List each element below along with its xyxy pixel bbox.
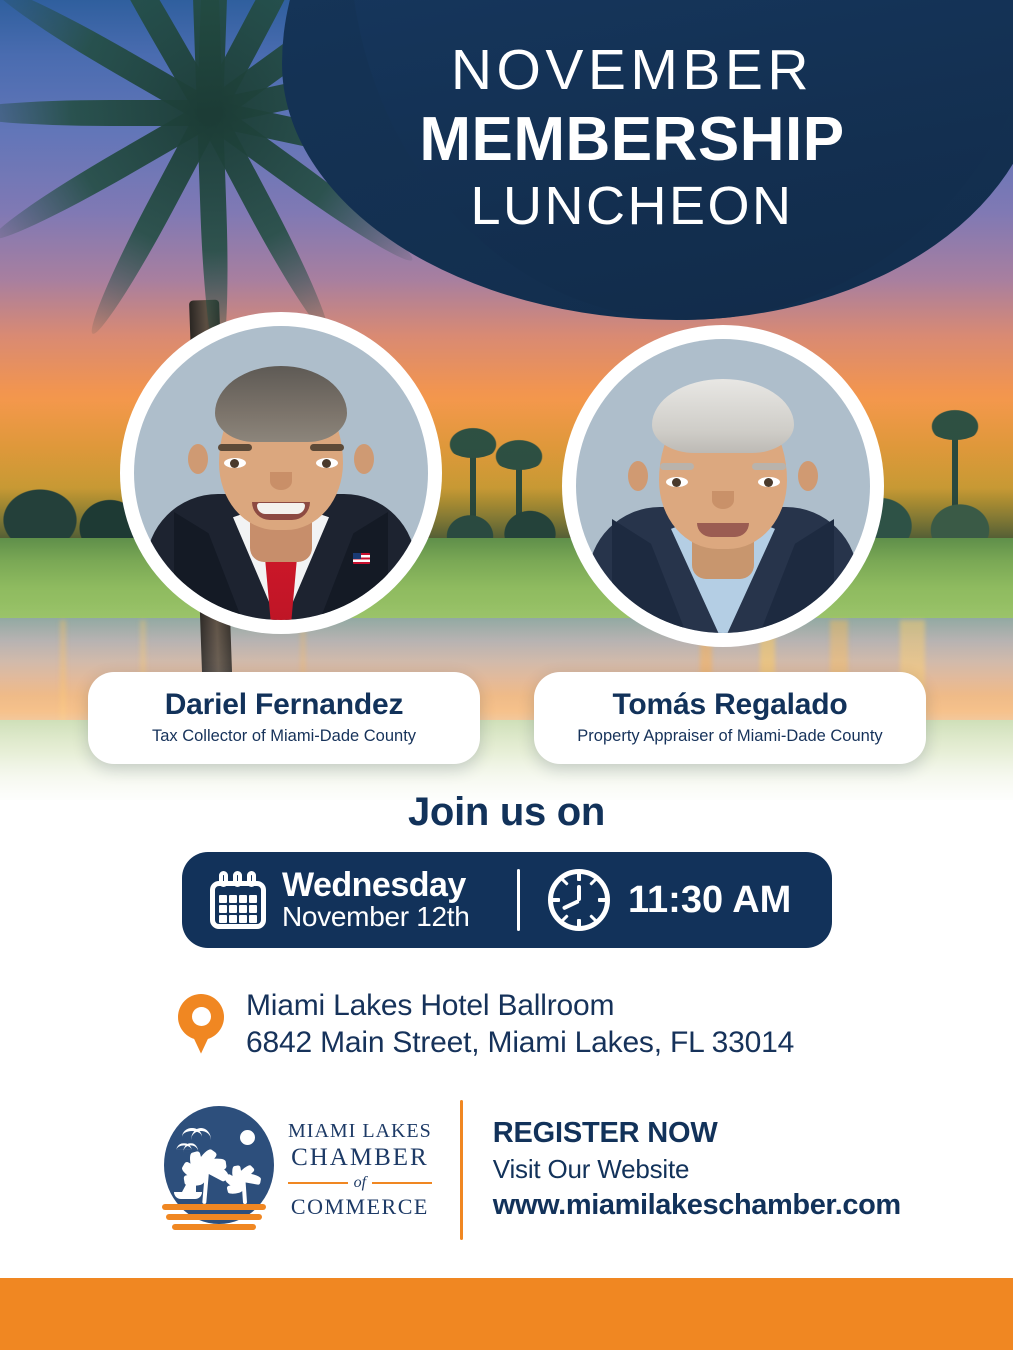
date-time-bar: Wednesday November 12th 11:30 AM — [182, 852, 832, 948]
eye-left — [224, 458, 246, 468]
page-title-month: NOVEMBER — [282, 42, 982, 99]
join-us-heading: Join us on — [0, 790, 1013, 835]
header-title-block: NOVEMBER MEMBERSHIP LUNCHEON — [282, 42, 982, 233]
venue-address: 6842 Main Street, Miami Lakes, FL 33014 — [246, 1025, 794, 1062]
logo-line-2: CHAMBER — [288, 1143, 432, 1173]
logo-rule-right — [372, 1182, 432, 1184]
flyer-canvas: NOVEMBER MEMBERSHIP LUNCHEON — [0, 0, 1013, 1350]
ear-right — [354, 444, 374, 474]
american-flag-pin — [353, 553, 370, 564]
wave-icon — [166, 1214, 262, 1220]
venue-name: Miami Lakes Hotel Ballroom — [246, 988, 794, 1025]
speaker-role: Property Appraiser of Miami-Dade County — [556, 727, 904, 746]
eyebrow-right — [752, 463, 786, 470]
logo-line-3: COMMERCE — [288, 1194, 432, 1220]
wave-icon — [162, 1204, 266, 1210]
register-block: REGISTER NOW Visit Our Website www.miami… — [493, 1115, 901, 1224]
location-text-group: Miami Lakes Hotel Ballroom 6842 Main Str… — [246, 988, 794, 1061]
speaker-name-card-2: Tomás Regalado Property Appraiser of Mia… — [534, 672, 926, 764]
ear-left — [188, 444, 208, 474]
wave-icon — [172, 1224, 256, 1230]
nose — [712, 491, 734, 509]
ear-right — [798, 461, 818, 491]
seagull-icon — [177, 1143, 192, 1150]
clock-icon — [548, 869, 610, 931]
speaker-name: Tomás Regalado — [556, 688, 904, 722]
nose — [270, 472, 292, 490]
chamber-logo: MIAMI LAKES CHAMBER of COMMERCE — [160, 1104, 432, 1236]
logo-connector-row: of — [288, 1174, 432, 1192]
seagull-icon — [182, 1128, 202, 1137]
sun-icon — [240, 1130, 255, 1145]
calendar-icon — [210, 871, 266, 929]
footer-vertical-divider — [460, 1100, 463, 1240]
chamber-logo-mark-icon — [160, 1104, 278, 1236]
eye-right — [316, 458, 338, 468]
logo-line-1: MIAMI LAKES — [288, 1119, 432, 1143]
event-time: 11:30 AM — [628, 879, 791, 922]
sailboat-hull-icon — [174, 1192, 202, 1199]
bottom-accent-bar — [0, 1278, 1013, 1350]
ear-left — [628, 461, 648, 491]
logo-rule-left — [288, 1182, 348, 1184]
date-text-group: Wednesday November 12th — [282, 868, 470, 932]
page-title-membership: MEMBERSHIP — [282, 109, 982, 171]
speaker-portrait-2 — [562, 325, 884, 647]
logo-connector: of — [354, 1174, 366, 1192]
eye-right — [758, 477, 780, 487]
eye-left — [666, 477, 688, 487]
eyebrow-left — [660, 463, 694, 470]
speaker-name-card-1: Dariel Fernandez Tax Collector of Miami-… — [88, 672, 480, 764]
event-weekday: Wednesday — [282, 868, 470, 903]
avatar — [576, 339, 870, 633]
map-pin-icon — [178, 994, 224, 1056]
eyebrow-left — [218, 444, 252, 451]
date-group: Wednesday November 12th — [182, 868, 517, 932]
eyebrow-right — [310, 444, 344, 451]
hair — [652, 379, 794, 453]
speaker-role: Tax Collector of Miami-Dade County — [110, 727, 458, 746]
hair — [215, 366, 347, 442]
register-heading: REGISTER NOW — [493, 1115, 901, 1153]
teeth — [257, 503, 305, 514]
chamber-logo-text: MIAMI LAKES CHAMBER of COMMERCE — [288, 1119, 432, 1220]
time-group: 11:30 AM — [520, 869, 791, 931]
register-subheading: Visit Our Website — [493, 1153, 901, 1187]
speaker-portrait-1 — [120, 312, 442, 634]
footer-block: MIAMI LAKES CHAMBER of COMMERCE REGISTER… — [160, 1100, 901, 1240]
avatar — [134, 326, 428, 620]
mouth — [697, 523, 749, 537]
location-block: Miami Lakes Hotel Ballroom 6842 Main Str… — [178, 988, 794, 1061]
page-title-luncheon: LUNCHEON — [282, 179, 982, 233]
event-date: November 12th — [282, 903, 470, 932]
speaker-name: Dariel Fernandez — [110, 688, 458, 722]
register-website-link[interactable]: www.miamilakeschamber.com — [493, 1187, 901, 1225]
